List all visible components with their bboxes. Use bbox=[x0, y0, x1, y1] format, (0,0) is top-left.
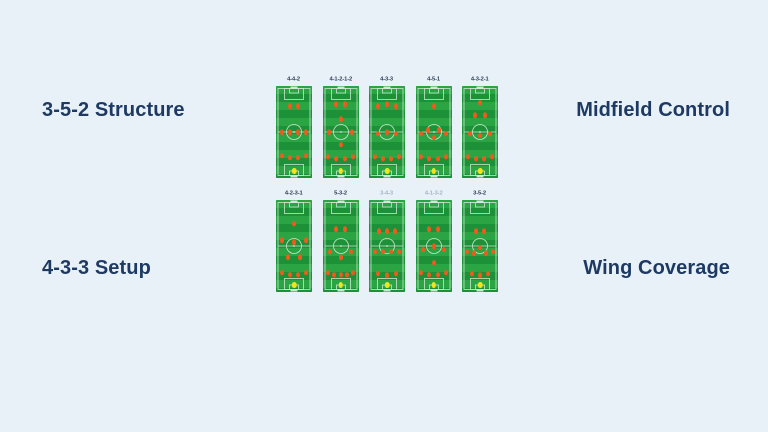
player-marker-defender bbox=[351, 154, 355, 160]
player-marker-defender bbox=[288, 272, 292, 278]
player-marker-midfielder bbox=[327, 129, 331, 135]
player-marker-midfielder bbox=[468, 131, 472, 137]
pitch-diagram[interactable] bbox=[323, 86, 359, 178]
formation-label: 4-3-2-1 bbox=[471, 77, 489, 83]
player-marker-goalkeeper bbox=[385, 168, 390, 174]
pitch-markings bbox=[323, 200, 359, 292]
player-marker-goalkeeper bbox=[292, 282, 297, 288]
player-marker-midfielder bbox=[373, 249, 377, 255]
player-marker-defender bbox=[351, 270, 355, 276]
formation-label: 5-3-2 bbox=[334, 191, 347, 197]
player-marker-midfielder bbox=[288, 129, 292, 135]
formation-card-4-1-2-1-2[interactable]: 4-1-2-1-2 bbox=[323, 78, 359, 178]
formation-label: 4-1-2-1-2 bbox=[329, 77, 352, 83]
player-marker-defender bbox=[466, 154, 470, 160]
formation-card-4-2-3-1[interactable]: 4-2-3-1 bbox=[276, 192, 312, 292]
player-marker-forward bbox=[334, 102, 338, 108]
player-marker-midfielder bbox=[298, 254, 302, 260]
player-marker-defender bbox=[419, 270, 423, 276]
player-marker-defender bbox=[474, 156, 478, 162]
player-marker-forward bbox=[473, 113, 477, 119]
formation-card-4-3-2-1[interactable]: 4-3-2-1 bbox=[462, 78, 498, 178]
formation-card-4-1-3-2[interactable]: 4-1-3-2 bbox=[416, 192, 452, 292]
player-marker-defender bbox=[419, 154, 423, 160]
pitch-diagram[interactable] bbox=[276, 200, 312, 292]
player-marker-defender bbox=[373, 154, 377, 160]
player-marker-forward bbox=[436, 227, 440, 233]
heading-top-left: 3-5-2 Structure bbox=[42, 100, 185, 120]
player-marker-defender bbox=[288, 155, 292, 161]
formation-label: 4-1-3-2 bbox=[425, 191, 443, 197]
player-marker-defender bbox=[478, 273, 482, 279]
player-marker-defender bbox=[343, 156, 347, 162]
player-marker-midfielder bbox=[350, 129, 354, 135]
pitch-diagram[interactable] bbox=[369, 86, 405, 178]
player-marker-goalkeeper bbox=[385, 282, 390, 288]
formation-label: 3-5-2 bbox=[474, 191, 487, 197]
player-marker-defender bbox=[490, 154, 494, 160]
formation-label: 4-2-3-1 bbox=[285, 191, 303, 197]
pitch-diagram[interactable] bbox=[462, 200, 498, 292]
player-marker-defender bbox=[326, 154, 330, 160]
player-marker-defender bbox=[394, 271, 398, 277]
formation-card-5-3-2[interactable]: 5-3-2 bbox=[323, 192, 359, 292]
player-marker-defender bbox=[280, 153, 284, 159]
player-marker-midfielder bbox=[437, 127, 441, 133]
heading-bottom-right: Wing Coverage bbox=[583, 258, 730, 278]
pitch-diagram[interactable] bbox=[416, 86, 452, 178]
heading-top-right: Midfield Control bbox=[576, 100, 730, 120]
player-marker-midfielder bbox=[478, 245, 482, 251]
player-marker-defender bbox=[376, 271, 380, 277]
player-marker-defender bbox=[334, 156, 338, 162]
player-marker-defender bbox=[444, 270, 448, 276]
player-marker-defender bbox=[482, 156, 486, 162]
player-marker-midfielder bbox=[385, 129, 389, 135]
formation-top-row: 4-4-2 4-1-2-1-2 bbox=[276, 78, 498, 178]
player-marker-midfielder bbox=[349, 249, 353, 255]
player-marker-midfielder bbox=[394, 131, 398, 137]
player-marker-midfielder bbox=[339, 254, 343, 260]
player-marker-defender bbox=[427, 272, 431, 278]
player-marker-forward bbox=[393, 229, 397, 235]
player-marker-forward bbox=[376, 103, 380, 109]
player-marker-defender bbox=[296, 272, 300, 278]
player-marker-defender bbox=[381, 156, 385, 162]
player-marker-midfielder bbox=[339, 116, 343, 122]
player-marker-defender bbox=[486, 271, 490, 277]
player-marker-defender bbox=[304, 270, 308, 276]
player-marker-midfielder bbox=[381, 249, 385, 255]
player-marker-goalkeeper bbox=[338, 168, 343, 174]
formation-label: 4-4-2 bbox=[288, 77, 301, 83]
player-marker-forward bbox=[343, 102, 347, 108]
player-marker-midfielder bbox=[432, 260, 436, 266]
player-marker-forward bbox=[334, 227, 338, 233]
player-marker-midfielder bbox=[432, 135, 436, 141]
player-marker-midfielder bbox=[389, 249, 393, 255]
player-marker-midfielder bbox=[444, 131, 448, 137]
player-marker-defender bbox=[280, 270, 284, 276]
player-marker-midfielder bbox=[376, 131, 380, 137]
player-marker-defender bbox=[436, 272, 440, 278]
player-marker-defender bbox=[385, 273, 389, 279]
player-marker-midfielder bbox=[421, 247, 425, 253]
player-marker-midfielder bbox=[296, 129, 300, 135]
player-marker-defender bbox=[389, 156, 393, 162]
player-marker-goalkeeper bbox=[478, 282, 483, 288]
player-marker-defender bbox=[444, 154, 448, 160]
player-marker-midfielder bbox=[432, 243, 436, 249]
pitch-diagram[interactable] bbox=[276, 86, 312, 178]
heading-bottom-left: 4-3-3 Setup bbox=[42, 258, 151, 278]
player-marker-midfielder bbox=[465, 249, 469, 255]
formation-card-4-4-2[interactable]: 4-4-2 bbox=[276, 78, 312, 178]
player-marker-goalkeeper bbox=[338, 282, 343, 288]
formation-label: 4-5-1 bbox=[427, 77, 440, 83]
player-marker-midfielder bbox=[280, 238, 284, 244]
player-marker-midfielder bbox=[328, 249, 332, 255]
player-marker-midfielder bbox=[478, 133, 482, 139]
player-marker-forward bbox=[474, 229, 478, 235]
player-marker-midfielder bbox=[292, 240, 296, 246]
player-marker-goalkeeper bbox=[292, 168, 297, 174]
player-marker-forward bbox=[343, 227, 347, 233]
player-marker-forward bbox=[296, 103, 300, 109]
player-marker-defender bbox=[470, 271, 474, 277]
player-marker-goalkeeper bbox=[478, 168, 483, 174]
pitch-diagram[interactable] bbox=[416, 200, 452, 292]
formation-bottom-row: 4-2-3-1 5-3-2 bbox=[276, 192, 498, 292]
player-marker-midfielder bbox=[304, 238, 308, 244]
formation-card-4-3-3[interactable]: 4-3-3 bbox=[369, 78, 405, 178]
pitch-diagram[interactable] bbox=[323, 200, 359, 292]
player-marker-forward bbox=[483, 113, 487, 119]
pitch-markings bbox=[276, 200, 312, 292]
formation-label: 4-3-3 bbox=[381, 77, 394, 83]
player-marker-defender bbox=[304, 153, 308, 159]
player-marker-forward bbox=[288, 103, 292, 109]
player-marker-forward bbox=[432, 103, 436, 109]
player-marker-defender bbox=[397, 154, 401, 160]
formation-grid: 4-4-2 4-1-2-1-2 bbox=[276, 78, 498, 292]
player-marker-defender bbox=[345, 272, 349, 278]
player-marker-defender bbox=[296, 155, 300, 161]
player-marker-midfielder bbox=[419, 131, 423, 137]
slide-canvas: 3-5-2 Structure Midfield Control 4-3-3 S… bbox=[0, 0, 768, 432]
player-marker-forward bbox=[427, 227, 431, 233]
pitch-diagram[interactable] bbox=[369, 200, 405, 292]
player-marker-midfielder bbox=[472, 251, 476, 257]
player-marker-goalkeeper bbox=[431, 168, 436, 174]
player-marker-midfielder bbox=[488, 131, 492, 137]
player-marker-midfielder bbox=[286, 254, 290, 260]
player-marker-defender bbox=[332, 272, 336, 278]
player-marker-forward bbox=[385, 229, 389, 235]
pitch-diagram[interactable] bbox=[462, 86, 498, 178]
player-marker-forward bbox=[482, 229, 486, 235]
player-marker-midfielder bbox=[397, 249, 401, 255]
player-marker-forward bbox=[377, 229, 381, 235]
player-marker-defender bbox=[427, 156, 431, 162]
player-marker-midfielder bbox=[339, 142, 343, 148]
player-marker-forward bbox=[385, 102, 389, 108]
player-marker-midfielder bbox=[280, 129, 284, 135]
player-marker-forward bbox=[478, 100, 482, 106]
player-marker-forward bbox=[394, 103, 398, 109]
player-marker-defender bbox=[339, 272, 343, 278]
player-marker-midfielder bbox=[426, 127, 430, 133]
player-marker-midfielder bbox=[484, 251, 488, 257]
player-marker-defender bbox=[326, 270, 330, 276]
formation-card-4-5-1[interactable]: 4-5-1 bbox=[416, 78, 452, 178]
formation-card-3-5-2[interactable]: 3-5-2 bbox=[462, 192, 498, 292]
player-marker-midfielder bbox=[442, 247, 446, 253]
formation-card-3-4-3[interactable]: 3-4-3 bbox=[369, 192, 405, 292]
player-marker-forward bbox=[292, 221, 296, 227]
player-marker-defender bbox=[436, 156, 440, 162]
player-marker-midfielder bbox=[304, 129, 308, 135]
player-marker-goalkeeper bbox=[431, 282, 436, 288]
formation-label: 3-4-3 bbox=[381, 191, 394, 197]
player-marker-midfielder bbox=[491, 249, 495, 255]
pitch-markings bbox=[369, 200, 405, 292]
